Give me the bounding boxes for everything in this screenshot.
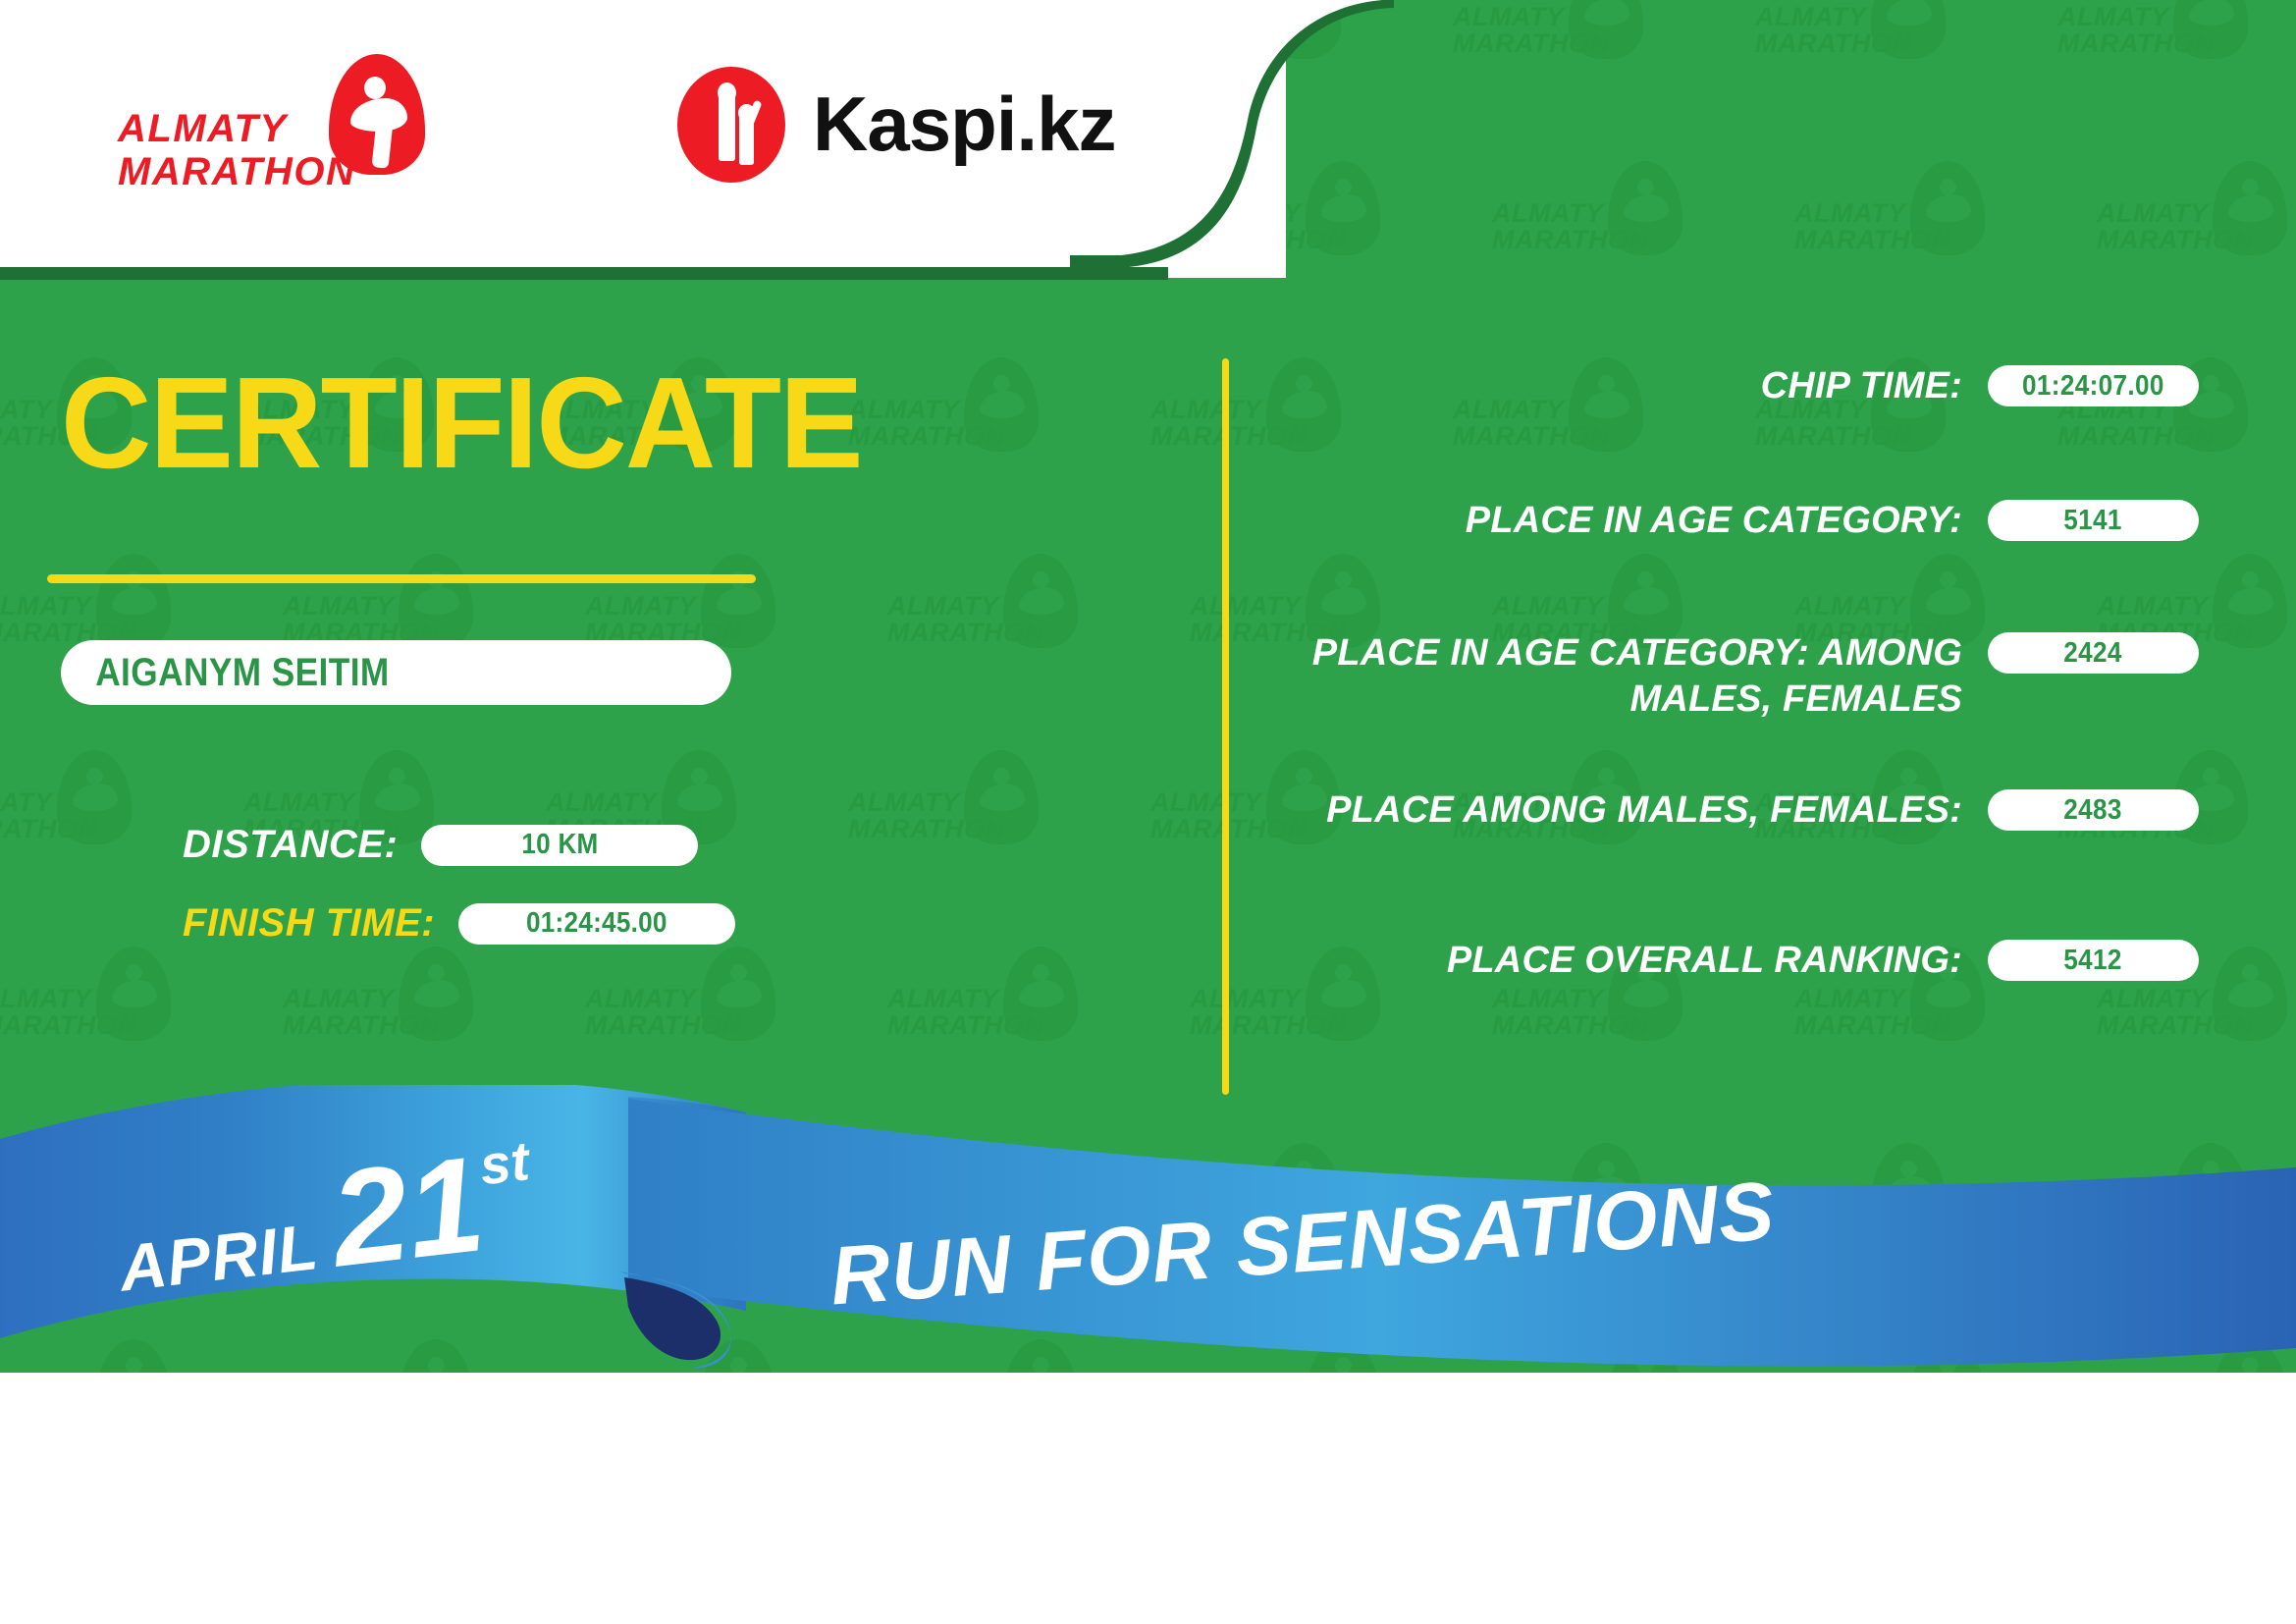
stat-row-place-among-gender: PLACE AMONG MALES, FEMALES: 2483 [1276, 787, 2199, 834]
watermark-tile: ALMATYMARATHON [848, 746, 1084, 893]
header-dark-underline [0, 267, 1168, 280]
watermark-tile: ALMATYMARATHON [1755, 1139, 1991, 1286]
watermark-runner-drop-icon [399, 947, 473, 1041]
watermark-runner-drop-icon [2213, 947, 2287, 1041]
stat-label-place-overall: PLACE OVERALL RANKING: [1276, 938, 1988, 984]
watermark-runner-drop-icon [96, 1339, 171, 1373]
watermark-runner-drop-icon [701, 947, 775, 1041]
watermark-tile: ALMATYMARATHON [585, 1335, 821, 1373]
watermark-text: ALMATYMARATHON [1794, 200, 1950, 253]
watermark-text: ALMATYMARATHON [0, 593, 136, 646]
ribbon-day: 21 [325, 1136, 490, 1287]
watermark-text: ALMATYMARATHON [887, 986, 1043, 1039]
column-divider [1222, 358, 1229, 1095]
watermark-runner-drop-icon [1306, 1339, 1380, 1373]
watermark-text: ALMATYMARATHON [2057, 4, 2214, 57]
watermark-text: ALMATYMARATHON [585, 593, 741, 646]
page-title: CERTIFICATE [61, 358, 862, 488]
watermark-runner-drop-icon [1608, 1339, 1682, 1373]
stat-label-place-age-category: PLACE IN AGE CATEGORY: [1276, 498, 1988, 544]
watermark-runner-drop-icon [2213, 161, 2287, 255]
watermark-runner-drop-icon [964, 357, 1039, 452]
watermark-text: ALMATYMARATHON [1755, 1182, 1911, 1235]
watermark-runner-drop-icon [1910, 161, 1985, 255]
stat-value-place-age-category-gender: 2424 [2064, 637, 2123, 670]
watermark-tile: ALMATYMARATHON [1794, 157, 2030, 304]
sponsor-bar: Sulpak SANOFI Empowering Life ORIFLAME S… [0, 1375, 2296, 1624]
watermark-runner-drop-icon [1003, 554, 1078, 648]
watermark-text: ALMATYMARATHON [2097, 986, 2253, 1039]
stat-row-place-age-category-gender: PLACE IN AGE CATEGORY: AMONG MALES, FEMA… [1276, 630, 2199, 723]
certificate-page: ALMATYMARATHONALMATYMARATHONALMATYMARATH… [0, 0, 2296, 1624]
watermark-tile: ALMATYMARATHON [283, 1335, 518, 1373]
stat-row-place-age-category: PLACE IN AGE CATEGORY: 5141 [1276, 498, 2199, 544]
watermark-text: ALMATYMARATHON [1492, 200, 1648, 253]
almaty-marathon-logo: ALMATY MARATHON [118, 54, 432, 191]
watermark-tile: ALMATYMARATHON [1492, 1335, 1728, 1373]
watermark-tile: ALMATYMARATHON [2097, 1335, 2296, 1373]
watermark-runner-drop-icon [701, 554, 775, 648]
watermark-tile: ALMATYMARATHON [283, 943, 518, 1090]
watermark-runner-drop-icon [662, 1143, 736, 1237]
watermark-tile: ALMATYMARATHON [243, 746, 479, 893]
watermark-text: ALMATYMARATHON [2097, 200, 2253, 253]
finish-time-row: FINISH TIME: 01:24:45.00 [183, 901, 735, 946]
watermark-tile: ALMATYMARATHON [2097, 157, 2296, 304]
stat-value-chip-time: 01:24:07.00 [2022, 370, 2164, 403]
finish-time-label: FINISH TIME: [183, 901, 435, 946]
watermark-tile: ALMATYMARATHON [1794, 1335, 2030, 1373]
ribbon-month: APRIL [116, 1209, 322, 1305]
watermark-text: ALMATYMARATHON [1755, 4, 1911, 57]
watermark-text: ALMATYMARATHON [1794, 986, 1950, 1039]
watermark-tile: ALMATYMARATHON [887, 1335, 1123, 1373]
stat-pill-place-overall: 5412 [1988, 940, 2199, 981]
title-underline-rule [47, 574, 756, 583]
watermark-runner-drop-icon [96, 947, 171, 1041]
watermark-runner-drop-icon [1003, 947, 1078, 1041]
watermark-tile: ALMATYMARATHON [546, 1139, 781, 1286]
watermark-text: ALMATYMARATHON [887, 593, 1043, 646]
finish-time-value: 01:24:45.00 [526, 907, 667, 940]
watermark-tile: ALMATYMARATHON [1755, 0, 1991, 108]
watermark-text: ALMATYMARATHON [546, 1182, 702, 1235]
watermark-tile: ALMATYMARATHON [0, 943, 216, 1090]
distance-value: 10 KM [521, 829, 598, 861]
watermark-text: ALMATYMARATHON [1453, 4, 1609, 57]
almaty-line: ALMATY [118, 107, 355, 150]
almaty-marathon-wordmark: ALMATY MARATHON [118, 107, 355, 193]
kaspi-people-icon [677, 67, 785, 183]
runner-leg-shape [372, 120, 394, 169]
watermark-runner-drop-icon [2213, 554, 2287, 648]
stat-pill-place-age-category: 5141 [1988, 500, 2199, 541]
watermark-runner-drop-icon [1871, 1143, 1946, 1237]
distance-label: DISTANCE: [183, 823, 398, 867]
watermark-text: ALMATYMARATHON [283, 986, 439, 1039]
watermark-runner-drop-icon [399, 1339, 473, 1373]
watermark-runner-drop-icon [96, 554, 171, 648]
distance-row: DISTANCE: 10 KM [183, 823, 698, 867]
stat-row-chip-time: CHIP TIME: 01:24:07.00 [1276, 363, 2199, 409]
watermark-tile: ALMATYMARATHON [0, 746, 177, 893]
watermark-tile: ALMATYMARATHON [887, 943, 1123, 1090]
watermark-tile: ALMATYMARATHON [848, 353, 1084, 501]
watermark-runner-drop-icon [1569, 0, 1643, 59]
participant-name-field: AIGANYM SEITIM [61, 640, 731, 705]
watermark-tile: ALMATYMARATHON [2057, 1139, 2293, 1286]
header-curve-shape [1070, 0, 1394, 278]
watermark-tile: ALMATYMARATHON [1190, 1335, 1425, 1373]
watermark-runner-drop-icon [2173, 1143, 2248, 1237]
watermark-text: ALMATYMARATHON [2057, 1182, 2214, 1235]
watermark-text: ALMATYMARATHON [1190, 986, 1346, 1039]
watermark-text: ALMATYMARATHON [283, 593, 439, 646]
watermark-text: ALMATYMARATHON [0, 1182, 97, 1235]
watermark-tile: ALMATYMARATHON [546, 746, 781, 893]
watermark-tile: ALMATYMARATHON [887, 550, 1123, 697]
watermark-tile: ALMATYMARATHON [1453, 0, 1688, 108]
stat-row-place-overall: PLACE OVERALL RANKING: 5412 [1276, 938, 2199, 984]
watermark-text: ALMATYMARATHON [848, 397, 1004, 450]
kaspi-adult-body [719, 84, 735, 161]
stat-value-place-among-gender: 2483 [2064, 794, 2123, 827]
stat-pill-place-age-category-gender: 2424 [1988, 632, 2199, 674]
stat-label-place-age-category-gender: PLACE IN AGE CATEGORY: AMONG MALES, FEMA… [1276, 630, 1988, 723]
ribbon-day-suffix: st [476, 1128, 532, 1197]
watermark-runner-drop-icon [2173, 0, 2248, 59]
kaspi-logo: Kaspi.kz [677, 67, 1090, 183]
watermark-tile: ALMATYMARATHON [1492, 157, 1728, 304]
participant-name-value: AIGANYM SEITIM [61, 651, 390, 695]
distance-value-pill: 10 KM [421, 825, 698, 866]
watermark-text: ALMATYMARATHON [0, 789, 97, 842]
watermark-runner-drop-icon [701, 1339, 775, 1373]
watermark-text: ALMATYMARATHON [1492, 986, 1648, 1039]
stat-value-place-overall: 5412 [2064, 945, 2123, 977]
finish-time-value-pill: 01:24:45.00 [458, 903, 735, 945]
watermark-tile: ALMATYMARATHON [0, 1335, 216, 1373]
watermark-text: ALMATYMARATHON [0, 986, 136, 1039]
runner-head-shape [364, 77, 386, 99]
watermark-tile: ALMATYMARATHON [2057, 0, 2293, 108]
watermark-runner-drop-icon [57, 750, 132, 844]
stat-value-place-age-category: 5141 [2064, 505, 2123, 537]
watermark-runner-drop-icon [1608, 161, 1682, 255]
watermark-runner-drop-icon [399, 554, 473, 648]
stat-pill-chip-time: 01:24:07.00 [1988, 365, 2199, 406]
stat-label-chip-time: CHIP TIME: [1276, 363, 1988, 409]
watermark-tile: ALMATYMARATHON [585, 943, 821, 1090]
watermark-runner-drop-icon [1910, 1339, 1985, 1373]
watermark-runner-drop-icon [1871, 0, 1946, 59]
stat-label-place-among-gender: PLACE AMONG MALES, FEMALES: [1276, 787, 1988, 834]
watermark-text: ALMATYMARATHON [848, 789, 1004, 842]
marathon-line: MARATHON [118, 150, 355, 193]
watermark-runner-drop-icon [964, 750, 1039, 844]
watermark-text: ALMATYMARATHON [585, 986, 741, 1039]
watermark-runner-drop-icon [2213, 1339, 2287, 1373]
stat-pill-place-among-gender: 2483 [1988, 789, 2199, 831]
kaspi-wordmark: Kaspi.kz [813, 81, 1115, 166]
watermark-runner-drop-icon [1003, 1339, 1078, 1373]
